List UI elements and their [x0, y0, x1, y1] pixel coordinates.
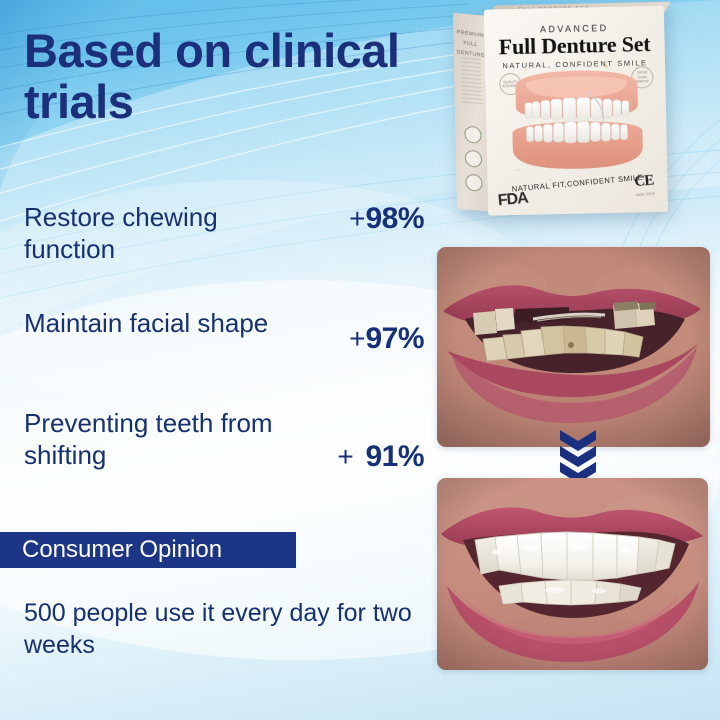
benefit-stat: + 91% [337, 408, 424, 474]
benefit-row: Maintain facial shape +97% [24, 308, 424, 356]
product-box-side-lines [461, 57, 482, 107]
after-photo [437, 478, 708, 670]
benefit-label: Maintain facial shape [24, 308, 274, 340]
benefit-stat-prefix: + [349, 203, 365, 234]
benefit-row: Restore chewing function +98% [24, 202, 424, 265]
benefit-label: Restore chewing function [24, 202, 274, 265]
certification-badge-icon [465, 173, 482, 191]
benefit-row: Preventing teeth from shifting + 91% [24, 408, 424, 474]
benefit-stat-value: 91% [365, 440, 424, 473]
chevron-down-icon [560, 430, 596, 451]
benefit-stat-value: 98% [365, 202, 424, 235]
consumer-opinion-banner: Consumer Opinion [0, 532, 296, 568]
benefit-stat: +98% [349, 202, 424, 236]
benefit-stat: +97% [349, 308, 424, 356]
product-box-front-panel: ADVANCED Full Denture Set NATURAL, CONFI… [484, 6, 668, 216]
before-photo [437, 247, 710, 447]
product-box-side-text: PREMIUM FULL DENTURE [455, 28, 486, 62]
certification-badge-icon [464, 125, 481, 143]
benefit-label: Preventing teeth from shifting [24, 408, 274, 471]
benefit-stat-prefix: + [337, 441, 361, 472]
ce-mark-subtext: 0000 0000 [636, 191, 656, 197]
consumer-opinion-footnote: 500 people use it every day for two week… [24, 597, 424, 661]
chevron-down-icon-group [556, 428, 600, 482]
consumer-opinion-label: Consumer Opinion [0, 536, 222, 564]
denture-ad-graphic: Based on clinical trials Restore chewing… [0, 0, 720, 720]
page-title: Based on clinical trials [24, 26, 454, 128]
benefit-stat-value: 97% [365, 322, 424, 355]
benefit-stat-prefix: + [349, 323, 365, 354]
product-box-image: FULL DENTURE SET PREMIUM FULL DENTURE AD… [453, 2, 672, 221]
denture-illustration [501, 68, 653, 173]
product-title-text: Full Denture Set [484, 31, 665, 61]
certification-badge-icon [464, 149, 481, 167]
fda-mark-icon: FDA [497, 190, 528, 211]
ce-mark-icon: CE [634, 172, 654, 191]
product-box-side-badges [460, 125, 486, 199]
